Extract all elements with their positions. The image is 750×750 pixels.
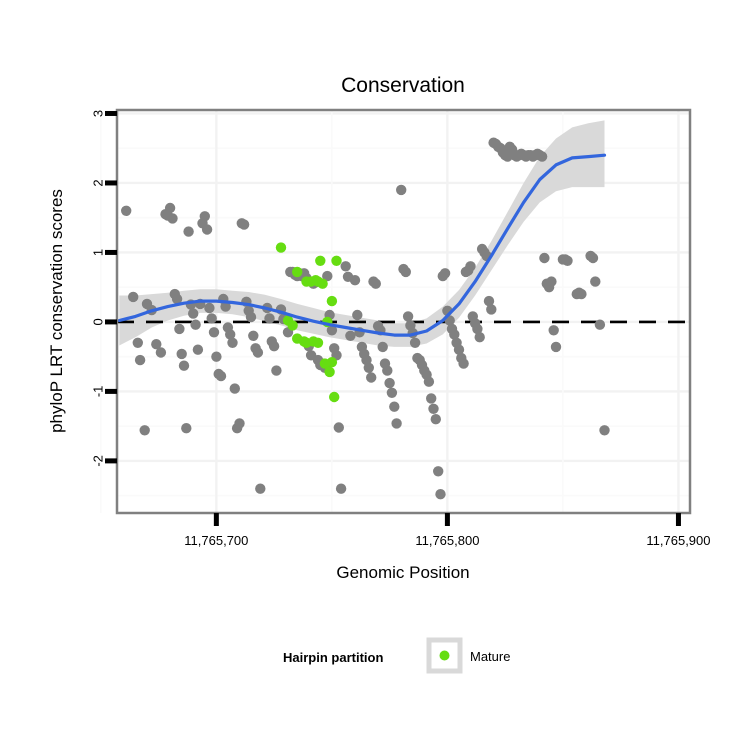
scatter-point[interactable] <box>401 267 411 277</box>
scatter-point[interactable] <box>364 363 374 373</box>
scatter-point[interactable] <box>255 484 265 494</box>
scatter-point[interactable] <box>248 331 258 341</box>
scatter-point[interactable] <box>428 404 438 414</box>
scatter-point[interactable] <box>253 347 263 357</box>
scatter-point[interactable] <box>135 355 145 365</box>
legend-key-mature-dot <box>440 651 450 661</box>
scatter-point[interactable] <box>576 289 586 299</box>
scatter-point[interactable] <box>537 151 547 161</box>
scatter-point[interactable] <box>465 261 475 271</box>
scatter-point[interactable] <box>209 327 219 337</box>
scatter-point[interactable] <box>341 261 351 271</box>
scatter-point[interactable] <box>227 338 237 348</box>
scatter-point[interactable] <box>317 279 327 289</box>
scatter-point[interactable] <box>200 211 210 221</box>
x-axis-tick-label: 11,765,700 <box>184 533 248 548</box>
y-axis-tick-label: 1 <box>90 249 105 256</box>
scatter-point[interactable] <box>230 383 240 393</box>
scatter-point[interactable] <box>431 414 441 424</box>
scatter-point[interactable] <box>403 311 413 321</box>
scatter-point[interactable] <box>549 325 559 335</box>
scatter-point[interactable] <box>239 219 249 229</box>
scatter-point[interactable] <box>551 342 561 352</box>
scatter-point[interactable] <box>433 466 443 476</box>
scatter-point[interactable] <box>313 338 323 348</box>
scatter-point[interactable] <box>211 352 221 362</box>
scatter-point[interactable] <box>167 213 177 223</box>
scatter-point[interactable] <box>202 224 212 234</box>
scatter-point[interactable] <box>264 313 274 323</box>
scatter-point[interactable] <box>336 484 346 494</box>
scatter-point[interactable] <box>324 367 334 377</box>
scatter-point[interactable] <box>396 185 406 195</box>
scatter-point[interactable] <box>156 347 166 357</box>
y-axis-tick-label: -1 <box>90 386 105 398</box>
scatter-point[interactable] <box>165 203 175 213</box>
scatter-point[interactable] <box>133 338 143 348</box>
scatter-point[interactable] <box>384 378 394 388</box>
scatter-point[interactable] <box>234 418 244 428</box>
x-axis-tick-label: 11,765,900 <box>646 533 710 548</box>
scatter-point[interactable] <box>204 303 214 313</box>
scatter-point[interactable] <box>292 267 302 277</box>
y-axis-tick-label: 2 <box>90 179 105 186</box>
scatter-point[interactable] <box>331 256 341 266</box>
scatter-point[interactable] <box>366 372 376 382</box>
scatter-point[interactable] <box>287 320 297 330</box>
y-axis-tick-label: 3 <box>90 110 105 117</box>
x-axis-title: Genomic Position <box>336 563 469 582</box>
legend-item-label[interactable]: Mature <box>470 649 510 664</box>
scatter-point[interactable] <box>269 341 279 351</box>
scatter-point[interactable] <box>352 310 362 320</box>
scatter-point[interactable] <box>181 423 191 433</box>
scatter-point[interactable] <box>410 338 420 348</box>
scatter-point[interactable] <box>458 358 468 368</box>
scatter-point[interactable] <box>216 371 226 381</box>
scatter-point[interactable] <box>128 292 138 302</box>
legend-title: Hairpin partition <box>283 650 383 665</box>
scatter-point[interactable] <box>179 361 189 371</box>
conservation-scatter-figure: Conservation -2-10123 11,765,70011,765,8… <box>0 0 750 750</box>
scatter-point[interactable] <box>588 253 598 263</box>
scatter-point[interactable] <box>207 313 217 323</box>
plot-canvas: Conservation -2-10123 11,765,70011,765,8… <box>0 0 750 750</box>
scatter-point[interactable] <box>599 425 609 435</box>
scatter-point[interactable] <box>174 324 184 334</box>
scatter-point[interactable] <box>190 320 200 330</box>
plot-panel <box>101 110 690 513</box>
y-axis-tick-label: 0 <box>90 318 105 325</box>
scatter-point[interactable] <box>345 331 355 341</box>
scatter-point[interactable] <box>183 226 193 236</box>
scatter-point[interactable] <box>590 276 600 286</box>
scatter-point[interactable] <box>188 308 198 318</box>
scatter-point[interactable] <box>475 332 485 342</box>
scatter-point[interactable] <box>387 388 397 398</box>
scatter-point[interactable] <box>193 345 203 355</box>
scatter-point[interactable] <box>334 422 344 432</box>
scatter-point[interactable] <box>378 342 388 352</box>
scatter-point[interactable] <box>389 402 399 412</box>
chart-title: Conservation <box>341 74 465 97</box>
scatter-point[interactable] <box>424 377 434 387</box>
scatter-point[interactable] <box>546 276 556 286</box>
scatter-point[interactable] <box>329 392 339 402</box>
scatter-point[interactable] <box>562 256 572 266</box>
scatter-point[interactable] <box>350 275 360 285</box>
y-axis-title: phyloP LRT conservation scores <box>47 189 66 433</box>
scatter-point[interactable] <box>371 279 381 289</box>
scatter-point[interactable] <box>315 256 325 266</box>
scatter-point[interactable] <box>391 418 401 428</box>
scatter-point[interactable] <box>121 206 131 216</box>
scatter-point[interactable] <box>539 253 549 263</box>
scatter-point[interactable] <box>276 242 286 252</box>
scatter-point[interactable] <box>435 489 445 499</box>
scatter-point[interactable] <box>327 296 337 306</box>
x-axis-tick-label: 11,765,800 <box>415 533 479 548</box>
scatter-point[interactable] <box>140 425 150 435</box>
scatter-point[interactable] <box>177 349 187 359</box>
scatter-point[interactable] <box>246 312 256 322</box>
scatter-point[interactable] <box>486 304 496 314</box>
y-axis-tick-label: -2 <box>90 455 105 467</box>
scatter-point[interactable] <box>595 320 605 330</box>
scatter-point[interactable] <box>271 365 281 375</box>
scatter-point[interactable] <box>426 393 436 403</box>
scatter-point[interactable] <box>440 268 450 278</box>
scatter-point[interactable] <box>382 365 392 375</box>
